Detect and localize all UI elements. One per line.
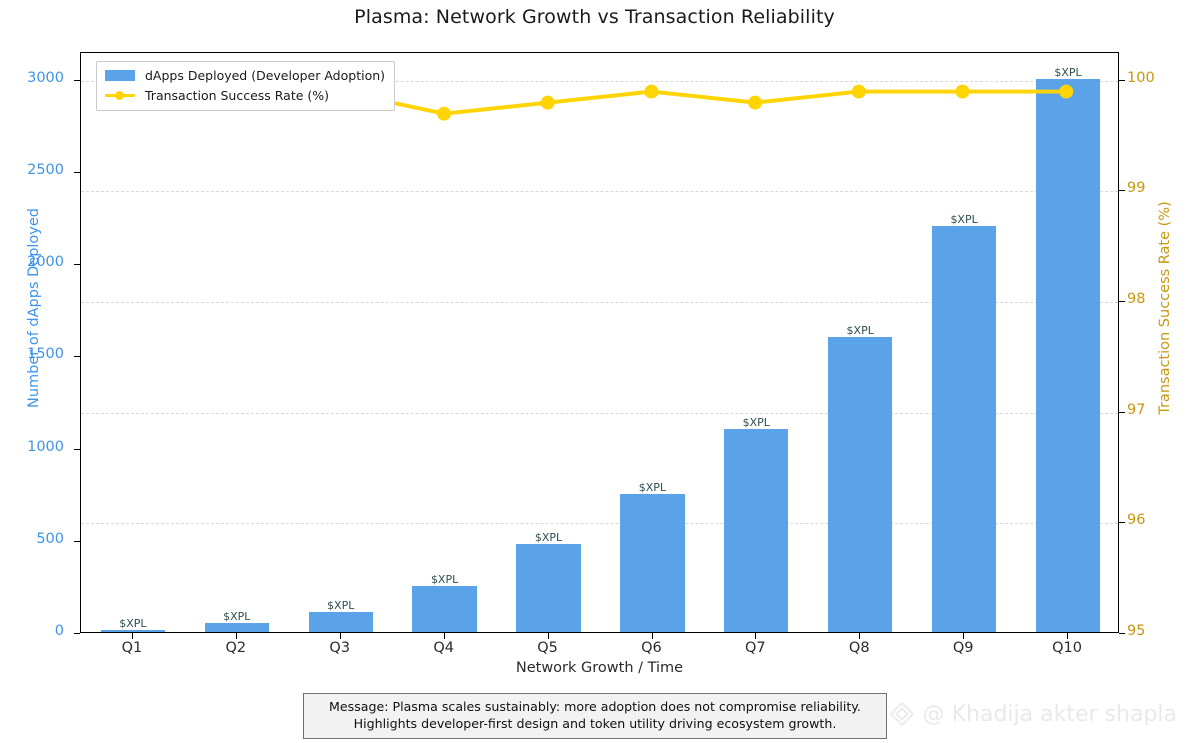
y-tick-mark-right [1119,412,1125,413]
message-box: Message: Plasma scales sustainably: more… [303,693,887,739]
x-tick-label-Q7: Q7 [715,640,795,656]
y-tick-mark-right [1119,80,1125,81]
legend-line-swatch-icon [105,90,135,101]
y-tick-label-right: 99 [1127,180,1145,196]
watermark-handle: @ Khadija akter shapla [923,702,1177,727]
legend-item-line[interactable]: Transaction Success Rate (%) [105,87,385,104]
x-tick-label-Q3: Q3 [300,640,380,656]
legend-label-bars: dApps Deployed (Developer Adoption) [145,68,385,83]
watermark: @ Khadija akter shapla [889,701,1177,727]
line-marker-Q10[interactable] [1059,85,1073,99]
diamond-logo-icon [889,701,915,727]
legend-item-bars[interactable]: dApps Deployed (Developer Adoption) [105,67,385,84]
y-tick-mark-right [1119,633,1125,634]
line-marker-Q4[interactable] [437,107,451,121]
x-tick-label-Q8: Q8 [819,640,899,656]
y-tick-mark-left [74,172,80,173]
plot-area: $XPL$XPL$XPL$XPL$XPL$XPL$XPL$XPL$XPL$XPL [80,52,1119,633]
x-tick-label-Q4: Q4 [404,640,484,656]
x-tick-mark [963,633,964,639]
y-tick-label-left: 1000 [27,439,64,455]
y-tick-mark-left [74,633,80,634]
y-tick-mark-left [74,80,80,81]
y-tick-mark-left [74,541,80,542]
line-marker-Q7[interactable] [748,96,762,110]
x-tick-mark [1067,633,1068,639]
x-tick-mark [548,633,549,639]
y-tick-label-left: 500 [36,531,64,547]
y-tick-label-left: 3000 [27,70,64,86]
y-tick-label-right: 96 [1127,512,1145,528]
x-tick-mark [132,633,133,639]
x-tick-label-Q9: Q9 [923,640,1003,656]
y-tick-mark-left [74,449,80,450]
message-line-1: Message: Plasma scales sustainably: more… [310,699,880,716]
message-line-2: Highlights developer-first design and to… [310,716,880,733]
line-marker-Q6[interactable] [644,85,658,99]
y-tick-mark-left [74,264,80,265]
x-tick-label-Q10: Q10 [1027,640,1107,656]
x-tick-mark [859,633,860,639]
x-tick-label-Q6: Q6 [611,640,691,656]
line-marker-Q9[interactable] [956,85,970,99]
chart-legend: dApps Deployed (Developer Adoption) Tran… [96,61,395,111]
legend-label-line: Transaction Success Rate (%) [145,88,329,103]
legend-bar-swatch-icon [105,70,135,81]
line-series-layer [81,53,1118,632]
x-tick-label-Q1: Q1 [92,640,172,656]
line-marker-Q8[interactable] [852,85,866,99]
y-tick-mark-right [1119,301,1125,302]
y-tick-label-right: 97 [1127,402,1145,418]
y-tick-label-right: 98 [1127,291,1145,307]
y-tick-label-right: 95 [1127,623,1145,639]
x-tick-mark [340,633,341,639]
x-tick-mark [755,633,756,639]
y-tick-label-left: 0 [55,623,64,639]
x-tick-mark [652,633,653,639]
y-tick-mark-right [1119,190,1125,191]
x-axis-label: Network Growth / Time [80,660,1119,676]
x-tick-label-Q5: Q5 [508,640,588,656]
x-tick-label-Q2: Q2 [196,640,276,656]
y-tick-mark-left [74,356,80,357]
y-tick-mark-right [1119,522,1125,523]
line-marker-Q5[interactable] [541,96,555,110]
y-tick-label-right: 100 [1127,70,1155,86]
chart-title: Plasma: Network Growth vs Transaction Re… [0,6,1189,28]
y-axis-label-right: Transaction Success Rate (%) [1157,178,1173,438]
x-tick-mark [236,633,237,639]
x-tick-mark [444,633,445,639]
y-axis-label-left: Number of dApps Deployed [26,178,42,438]
y-tick-label-left: 2500 [27,162,64,178]
